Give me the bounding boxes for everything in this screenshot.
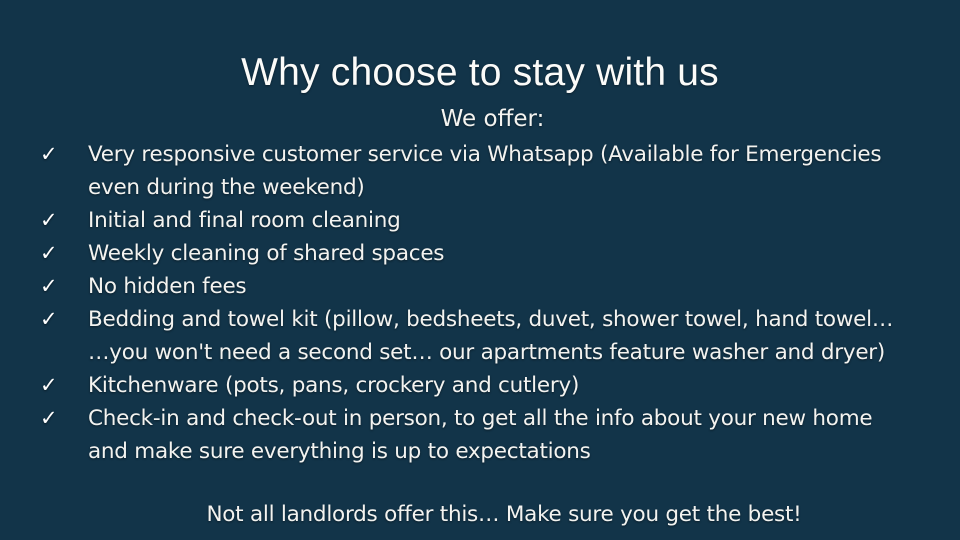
list-item: ✓ Weekly cleaning of shared spaces [0, 237, 960, 270]
list-item-label: Kitchenware (pots, pans, crockery and cu… [88, 369, 930, 402]
list-item: ✓ No hidden fees [0, 270, 960, 303]
checkmark-icon: ✓ [40, 369, 66, 402]
benefits-list: ✓ Very responsive customer service via W… [0, 138, 960, 468]
list-item: ✓ Very responsive customer service via W… [0, 138, 960, 204]
list-item-label: No hidden fees [88, 270, 930, 303]
list-item-label: Check-in and check-out in person, to get… [88, 402, 930, 468]
list-item-label: Weekly cleaning of shared spaces [88, 237, 930, 270]
checkmark-icon: ✓ [40, 303, 66, 336]
list-item: ✓ Bedding and towel kit (pillow, bedshee… [0, 303, 960, 369]
list-item-label: Very responsive customer service via Wha… [88, 138, 930, 204]
checkmark-icon: ✓ [40, 138, 66, 171]
list-item-label: Bedding and towel kit (pillow, bedsheets… [88, 303, 930, 369]
closing-tagline: Not all landlords offer this… Make sure … [0, 500, 960, 530]
list-item: ✓ Kitchenware (pots, pans, crockery and … [0, 369, 960, 402]
list-item: ✓ Check-in and check-out in person, to g… [0, 402, 960, 468]
checkmark-icon: ✓ [40, 204, 66, 237]
checkmark-icon: ✓ [40, 270, 66, 303]
page-title: Why choose to stay with us [0, 50, 960, 96]
slide-canvas: Why choose to stay with us We offer: ✓ V… [0, 0, 960, 540]
checkmark-icon: ✓ [40, 237, 66, 270]
checkmark-icon: ✓ [40, 402, 66, 435]
list-item-label: Initial and final room cleaning [88, 204, 930, 237]
list-item: ✓ Initial and final room cleaning [0, 204, 960, 237]
slide-subtitle: We offer: [0, 104, 960, 134]
